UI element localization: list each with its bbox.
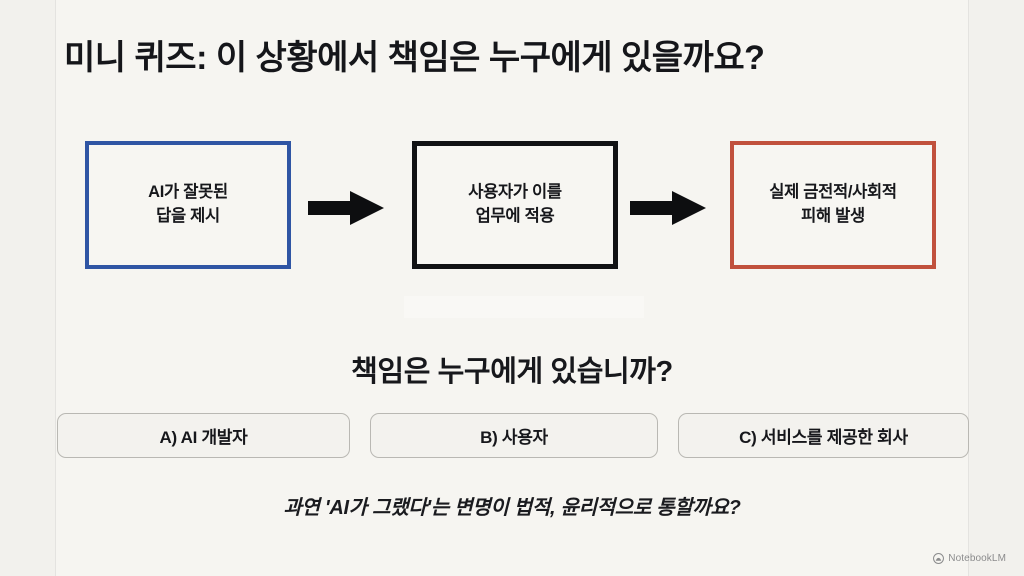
slide-title: 미니 퀴즈: 이 상황에서 책임은 누구에게 있을까요? bbox=[64, 38, 964, 79]
flow-step-3-line-2: 피해 발생 bbox=[801, 207, 865, 225]
arrow-right-icon bbox=[308, 191, 384, 225]
flow-step-box-2: 사용자가 이를 업무에 적용 bbox=[412, 141, 618, 269]
answer-option-b-label: B) 사용자 bbox=[480, 423, 548, 448]
slide-footnote: 과연 'AI가 그랬다'는 변명이 법적, 윤리적으로 통할까요? bbox=[0, 491, 1024, 520]
flow-step-box-1: AI가 잘못된 답을 제시 bbox=[85, 141, 291, 269]
flow-step-1-text: AI가 잘못된 답을 제시 bbox=[148, 181, 228, 229]
notebooklm-logo-icon bbox=[933, 553, 944, 564]
flow-step-2-line-2: 업무에 적용 bbox=[476, 207, 555, 225]
answer-option-a[interactable]: A) AI 개발자 bbox=[57, 413, 350, 458]
slide-canvas: 미니 퀴즈: 이 상황에서 책임은 누구에게 있을까요? AI가 잘못된 답을 … bbox=[0, 0, 1024, 576]
slide-right-margin-band bbox=[968, 0, 1024, 576]
answer-options-row: A) AI 개발자 B) 사용자 C) 서비스를 제공한 회사 bbox=[57, 413, 969, 458]
answer-option-b[interactable]: B) 사용자 bbox=[370, 413, 658, 458]
flow-step-1-line-2: 답을 제시 bbox=[156, 207, 220, 225]
answer-option-a-label: A) AI 개발자 bbox=[160, 423, 248, 448]
answer-option-c-label: C) 서비스를 제공한 회사 bbox=[739, 423, 908, 448]
flow-diagram: AI가 잘못된 답을 제시 사용자가 이를 업무에 적용 실제 금전적/사회적 … bbox=[58, 141, 966, 275]
arrow-right-icon bbox=[630, 191, 706, 225]
flow-step-3-text: 실제 금전적/사회적 피해 발생 bbox=[769, 181, 897, 229]
slide-right-edge-line bbox=[968, 0, 969, 576]
slide-left-margin-band bbox=[0, 0, 56, 576]
background-artifact-rect bbox=[404, 296, 644, 318]
answer-option-c[interactable]: C) 서비스를 제공한 회사 bbox=[678, 413, 969, 458]
flow-step-box-3: 실제 금전적/사회적 피해 발생 bbox=[730, 141, 936, 269]
flow-step-2-line-1: 사용자가 이를 bbox=[468, 183, 562, 201]
flow-step-2-text: 사용자가 이를 업무에 적용 bbox=[468, 181, 562, 229]
quiz-question: 책임은 누구에게 있습니까? bbox=[0, 348, 1024, 390]
slide-left-edge-line bbox=[55, 0, 56, 576]
notebooklm-watermark: NotebookLM bbox=[933, 553, 1006, 564]
flow-step-1-line-1: AI가 잘못된 bbox=[148, 183, 228, 201]
flow-step-3-line-1: 실제 금전적/사회적 bbox=[769, 183, 897, 201]
notebooklm-watermark-label: NotebookLM bbox=[948, 553, 1006, 564]
